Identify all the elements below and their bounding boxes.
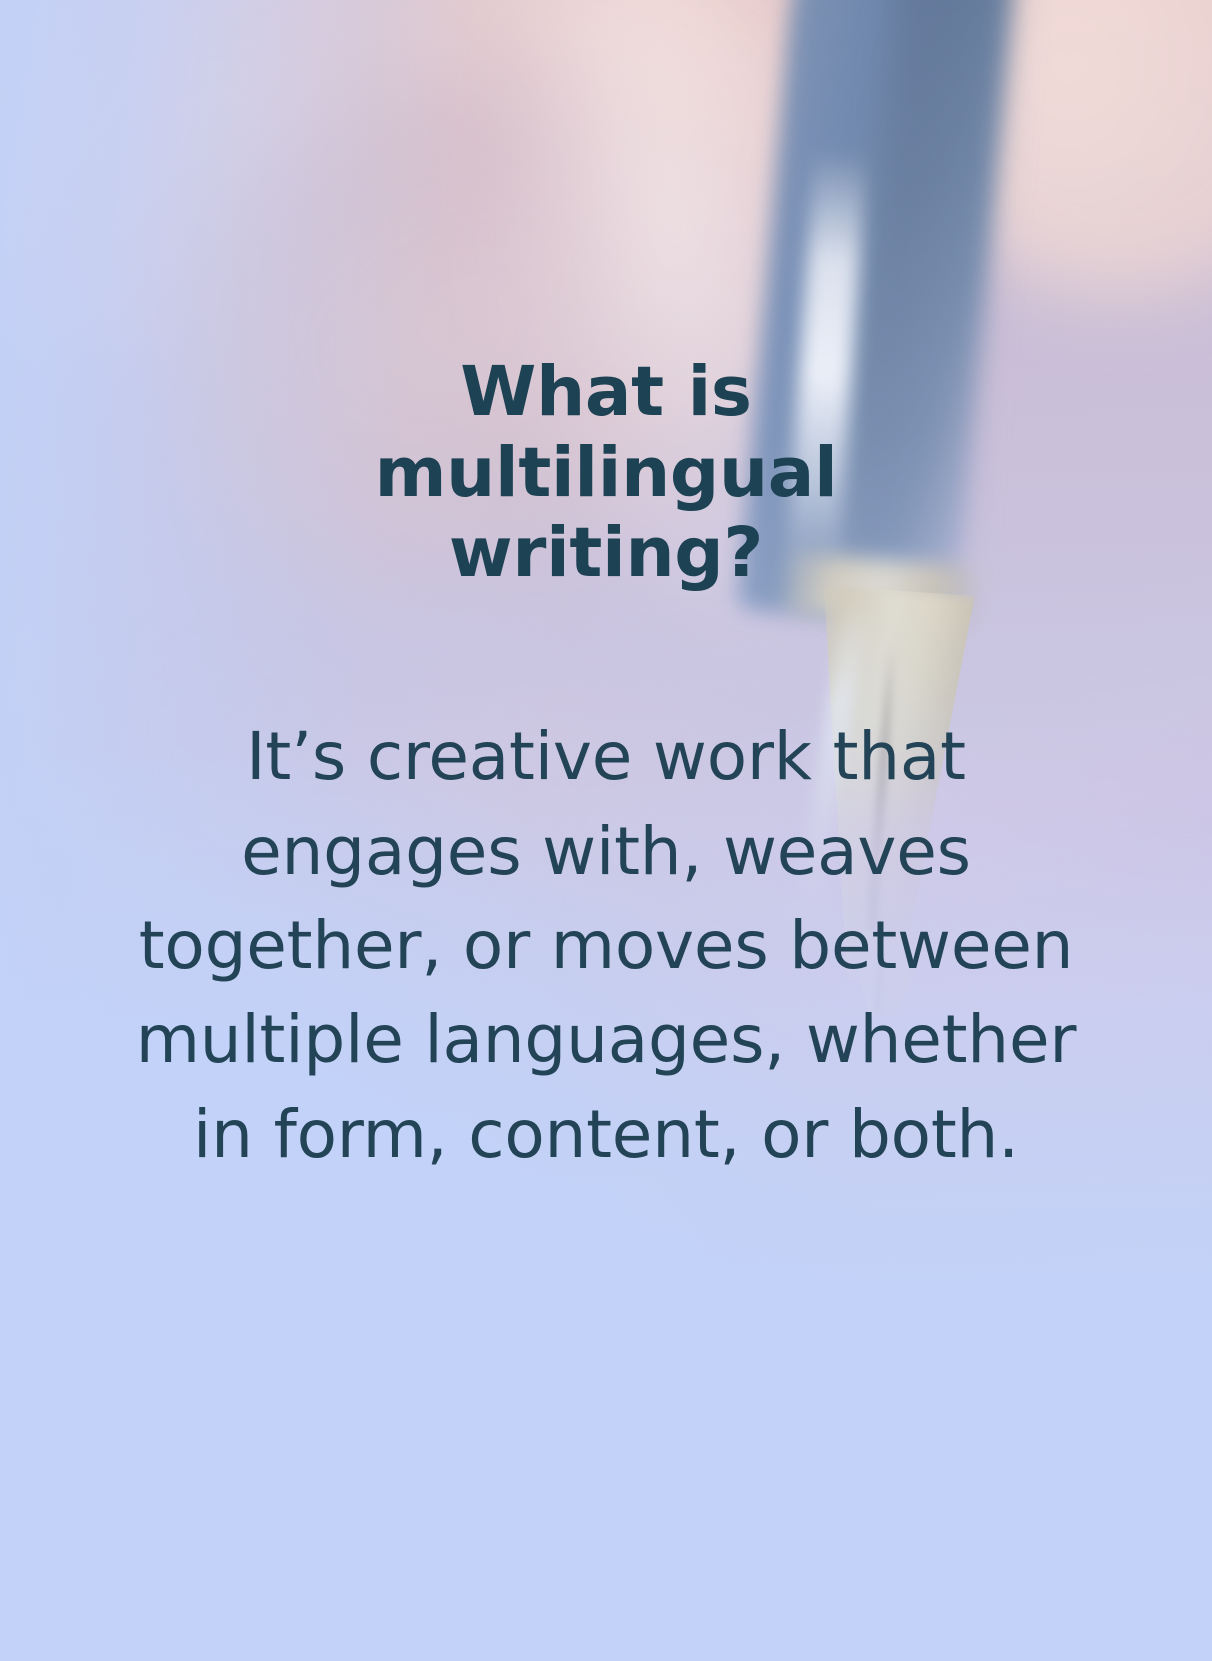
quote-card: What is multilingual writing? It’s creat… [0,0,1212,1661]
headline: What is multilingual writing? [226,0,986,594]
text-content: What is multilingual writing? It’s creat… [0,0,1212,1661]
body-paragraph: It’s creative work that engages with, we… [101,594,1111,1182]
